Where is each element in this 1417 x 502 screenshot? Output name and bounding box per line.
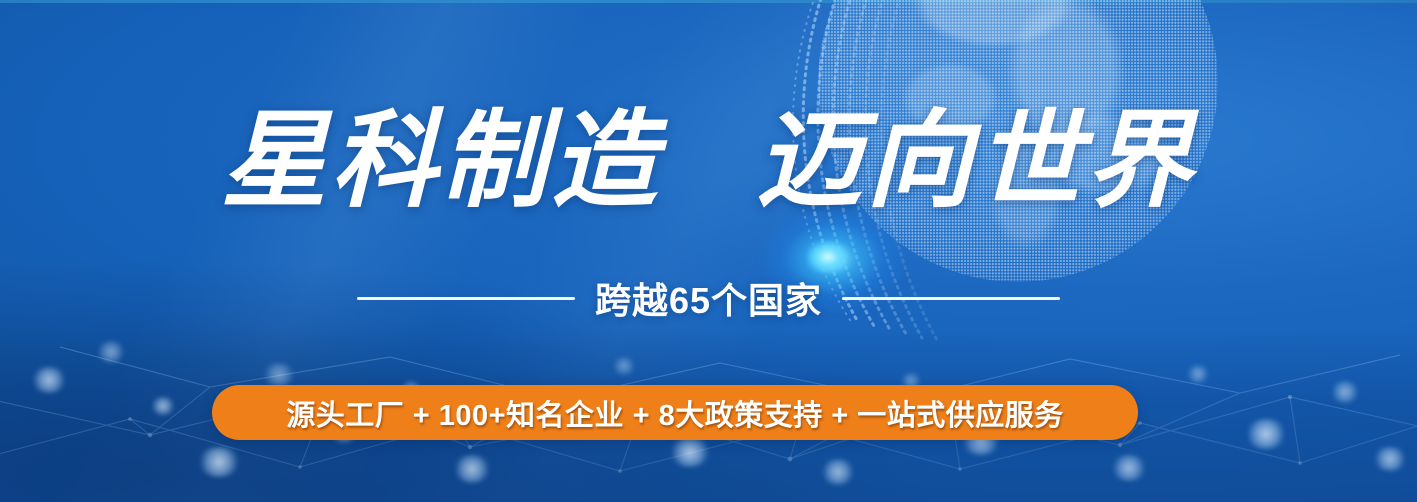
- subtitle-rule-left: [357, 297, 575, 300]
- banner-subtitle: 跨越65个国家: [595, 272, 822, 324]
- banner-headline: 星科制造 迈向世界: [0, 108, 1417, 216]
- promo-pill[interactable]: 源头工厂 + 100+知名企业 + 8大政策支持 + 一站式供应服务: [212, 385, 1138, 440]
- headline-part-2: 迈向世界: [756, 103, 1196, 220]
- subtitle-rule-right: [842, 297, 1060, 300]
- promo-pill-label: 源头工厂 + 100+知名企业 + 8大政策支持 + 一站式供应服务: [286, 392, 1064, 434]
- promo-banner: 星科制造 迈向世界 跨越65个国家 源头工厂 + 100+知名企业 + 8大政策…: [0, 0, 1417, 502]
- banner-subtitle-row: 跨越65个国家: [0, 272, 1417, 324]
- headline-part-1: 星科制造: [221, 103, 661, 220]
